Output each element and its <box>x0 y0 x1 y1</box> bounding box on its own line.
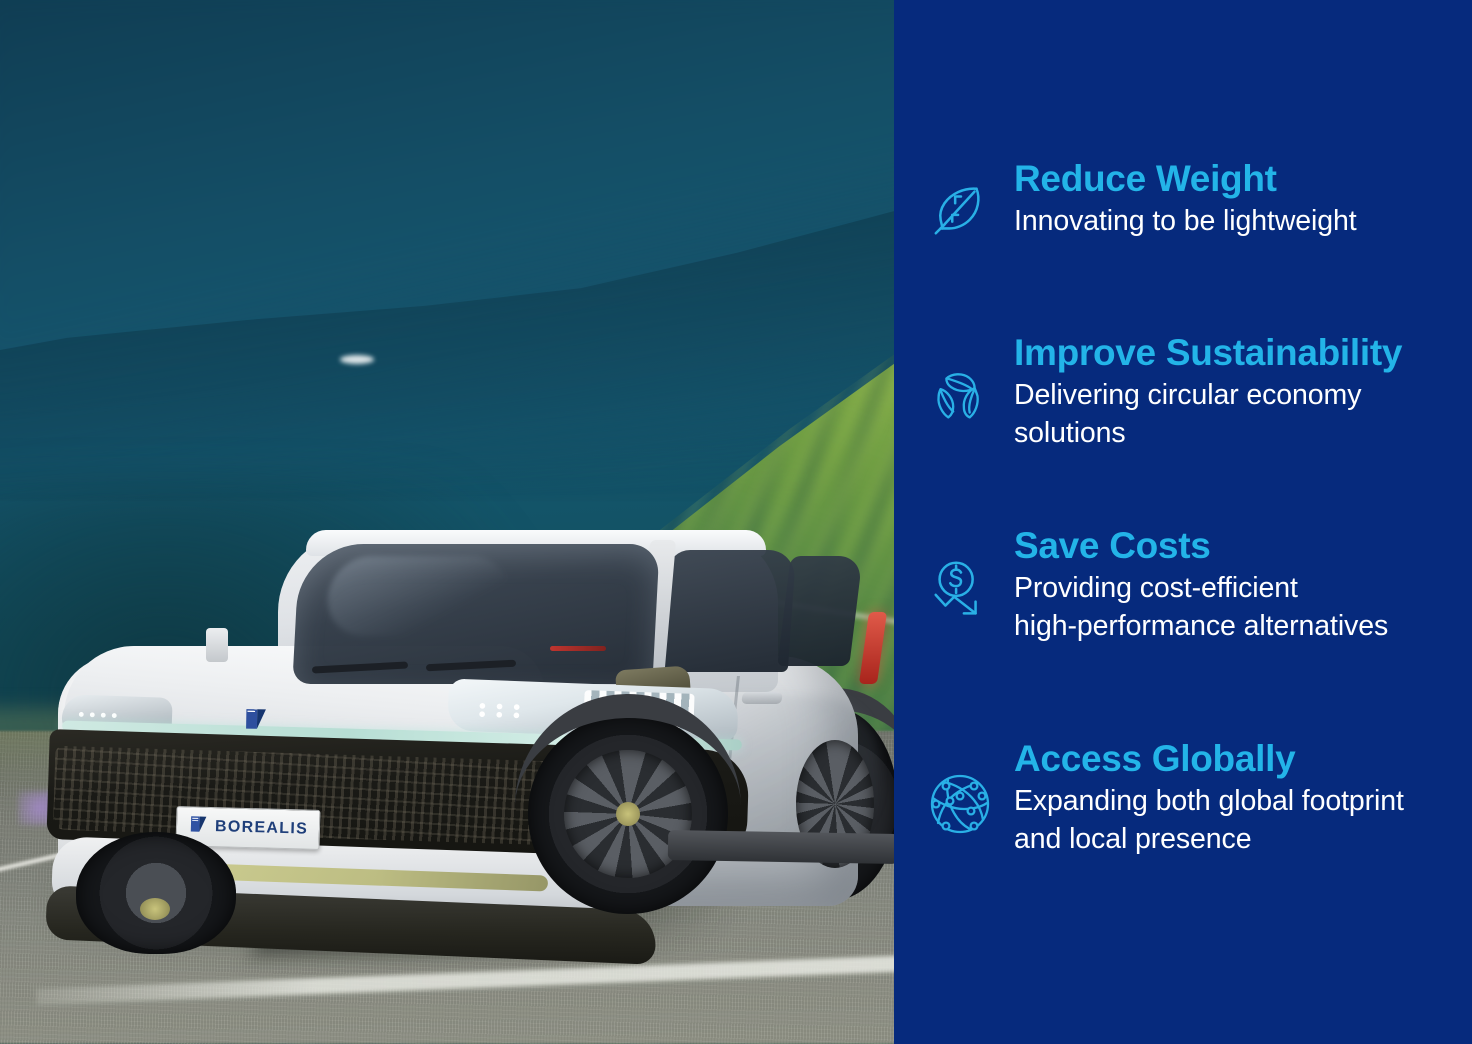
left-front-wheel <box>76 832 236 954</box>
benefit-title: Save Costs <box>1014 525 1468 566</box>
borealis-plate-logo-icon <box>189 814 209 839</box>
benefit-item-access-globally: Access Globally Expanding both global fo… <box>908 738 1468 859</box>
benefit-desc-line: solutions <box>1014 415 1468 453</box>
dollar-down-arrow-icon <box>908 525 1012 625</box>
benefit-text-block: Access Globally Expanding both global fo… <box>1012 738 1468 859</box>
benefit-title: Access Globally <box>1014 738 1468 779</box>
benefit-title: Reduce Weight <box>1014 158 1468 199</box>
side-window <box>660 550 797 672</box>
benefit-text-block: Reduce Weight Innovating to be lightweig… <box>1012 158 1468 241</box>
benefit-desc-line: high-performance alternatives <box>1014 608 1468 646</box>
left-hub-cap <box>140 898 170 920</box>
benefit-title: Improve Sustainability <box>1014 332 1468 373</box>
slide-root: BOREALIS <box>0 0 1472 1044</box>
benefit-text-block: Improve Sustainability Delivering circul… <box>1012 332 1468 453</box>
roof-antenna <box>206 628 228 662</box>
network-globe-icon <box>908 738 1012 840</box>
benefit-item-reduce-weight: Reduce Weight Innovating to be lightweig… <box>908 158 1468 242</box>
snow-patch <box>340 355 374 364</box>
benefit-item-save-costs: Save Costs Providing cost-efficient high… <box>908 525 1468 646</box>
recycle-leaves-icon <box>908 332 1012 430</box>
side-rocker-panel <box>668 830 894 864</box>
feather-icon <box>908 158 1012 242</box>
benefit-desc-line: and local presence <box>1014 821 1468 859</box>
benefit-description: Delivering circular economy solutions <box>1014 377 1468 453</box>
benefit-text-block: Save Costs Providing cost-efficient high… <box>1012 525 1468 646</box>
concept-car: BOREALIS <box>28 516 858 946</box>
benefit-desc-line: Providing cost-efficient <box>1014 570 1468 608</box>
license-plate-text: BOREALIS <box>215 818 309 839</box>
borealis-logo-icon <box>243 706 269 732</box>
hero-photo: BOREALIS <box>0 0 894 1044</box>
benefit-desc-line: Expanding both global footprint <box>1014 783 1468 821</box>
benefit-description: Providing cost-efficient high-performanc… <box>1014 570 1468 646</box>
benefit-desc-line: Innovating to be lightweight <box>1014 203 1468 241</box>
benefits-panel: Reduce Weight Innovating to be lightweig… <box>894 0 1472 1044</box>
benefit-description: Expanding both global footprint and loca… <box>1014 783 1468 859</box>
headlight-right-leds <box>476 701 555 722</box>
dashboard-light <box>550 646 606 651</box>
windshield-glare <box>324 556 512 636</box>
benefit-description: Innovating to be lightweight <box>1014 203 1468 241</box>
benefit-desc-line: Delivering circular economy <box>1014 377 1468 415</box>
benefit-item-improve-sustainability: Improve Sustainability Delivering circul… <box>908 332 1468 453</box>
